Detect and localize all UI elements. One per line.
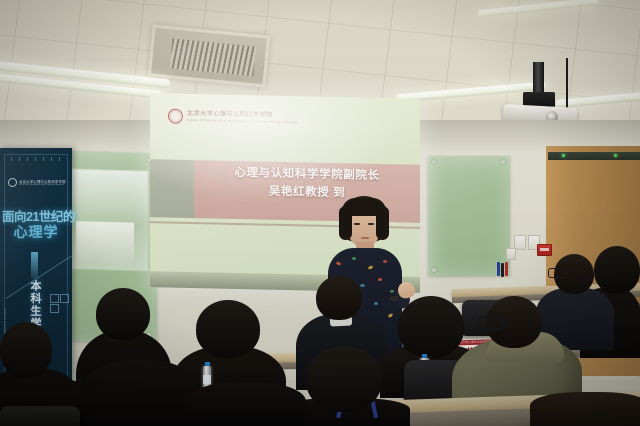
banner-headline-main: 心理学 bbox=[2, 222, 70, 242]
door-status-led-icon bbox=[614, 154, 617, 157]
audience-head bbox=[196, 300, 260, 358]
audience-head bbox=[0, 322, 52, 378]
audience-foreground-silhouette bbox=[186, 382, 306, 426]
window-reflection bbox=[76, 221, 134, 265]
audience-head bbox=[96, 288, 150, 340]
audience-foreground-silhouette bbox=[530, 392, 640, 426]
banner-logo: 北京大学心理与认知科学学院 School of Psychological an… bbox=[8, 178, 66, 187]
banner-square-graphic bbox=[60, 294, 69, 303]
presenter-mouth bbox=[361, 237, 369, 239]
audience-head bbox=[398, 296, 464, 358]
slide-header: 北京大学心理与认知科学学院 School of Psychological an… bbox=[150, 103, 420, 133]
presentation-clicker[interactable] bbox=[390, 296, 399, 301]
pku-seal-logo-icon bbox=[8, 178, 17, 187]
audience-head bbox=[594, 246, 640, 294]
eyeglasses-icon bbox=[478, 316, 504, 330]
whiteboard-markers bbox=[497, 262, 511, 278]
projector-ceiling-mount bbox=[533, 62, 544, 96]
door-top-rail bbox=[548, 152, 640, 160]
banner-logo-en: School of Psychological and Cognitive Sc… bbox=[19, 184, 66, 186]
banner-square-graphic bbox=[50, 294, 59, 303]
eyeglasses-icon bbox=[548, 268, 568, 278]
audience-head bbox=[306, 346, 382, 412]
presenter-hair-side bbox=[339, 206, 352, 240]
audience-head bbox=[316, 276, 362, 320]
banner-arrow-graphic bbox=[31, 252, 38, 278]
green-glass-whiteboard bbox=[428, 156, 510, 276]
black-office-chair[interactable] bbox=[0, 406, 80, 426]
whiteboard-marker-cup bbox=[506, 248, 516, 260]
slide-band-accent bbox=[150, 159, 194, 218]
presenter-hair-side bbox=[376, 206, 389, 240]
audience-foreground-silhouette bbox=[84, 360, 196, 426]
fire-alarm-call-point[interactable] bbox=[537, 244, 552, 256]
pku-seal-logo-icon bbox=[168, 108, 183, 123]
banner-square-graphic bbox=[50, 304, 59, 313]
door-status-led-icon bbox=[562, 154, 565, 157]
lecture-hall-photo: 北京大学心理与认知科学学院 School of Psychological an… bbox=[0, 0, 640, 426]
